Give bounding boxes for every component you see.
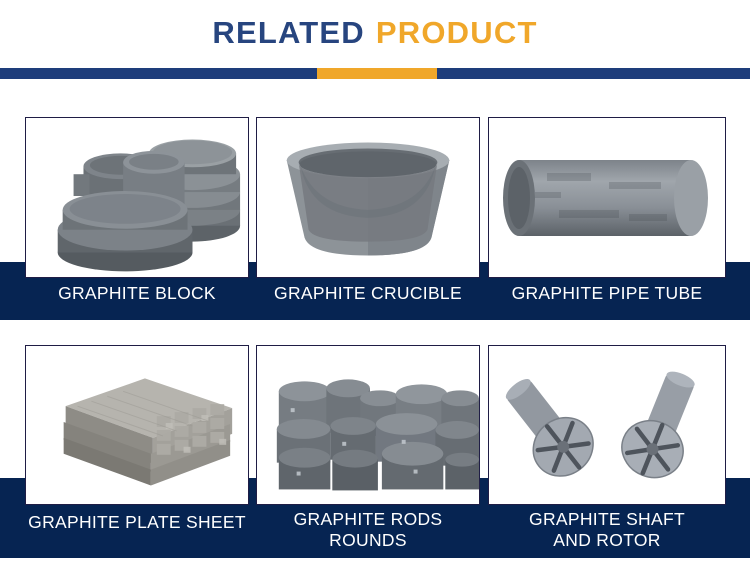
product-label-graphite-pipe-tube: GRAPHITE PIPE TUBE [488, 283, 726, 304]
page-title-primary: RELATED [212, 15, 365, 50]
product-label-graphite-crucible: GRAPHITE CRUCIBLE [256, 283, 480, 304]
product-card-graphite-pipe-tube[interactable] [488, 117, 726, 278]
graphite-pipe-tube-photo [489, 118, 725, 277]
graphite-block-photo [26, 118, 248, 277]
graphite-plate-sheet-photo [26, 346, 248, 504]
title-divider [0, 68, 750, 79]
divider-segment-highlight [317, 68, 437, 79]
graphite-shaft-rotor-photo [489, 346, 725, 504]
product-label-graphite-plate-sheet: GRAPHITE PLATE SHEET [10, 512, 264, 533]
product-label-graphite-block: GRAPHITE BLOCK [25, 283, 249, 304]
product-card-graphite-shaft-rotor[interactable] [488, 345, 726, 505]
product-card-graphite-block[interactable] [25, 117, 249, 278]
page-title: RELATEDPRODUCT [0, 14, 750, 52]
product-card-graphite-crucible[interactable] [256, 117, 480, 278]
divider-segment-right [437, 68, 750, 79]
graphite-rods-rounds-photo [257, 346, 479, 504]
page-title-accent: PRODUCT [376, 15, 538, 50]
product-label-graphite-rods-rounds: GRAPHITE RODS ROUNDS [256, 509, 480, 551]
product-label-graphite-shaft-rotor: GRAPHITE SHAFT AND ROTOR [488, 509, 726, 551]
product-card-graphite-rods-rounds[interactable] [256, 345, 480, 505]
related-product-section: RELATEDPRODUCT [0, 0, 750, 577]
product-card-graphite-plate-sheet[interactable] [25, 345, 249, 505]
graphite-crucible-photo [257, 118, 479, 277]
divider-segment-left [0, 68, 317, 79]
